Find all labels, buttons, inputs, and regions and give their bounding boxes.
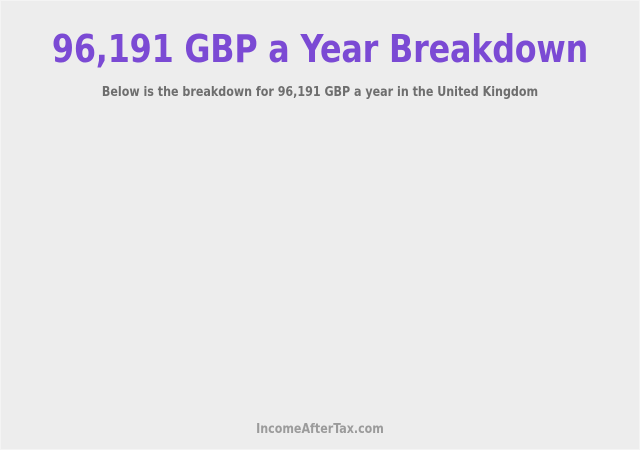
header: 96,191 GBP a Year Breakdown Below is the… [1,1,639,101]
site-watermark: IncomeAfterTax.com [17,422,623,438]
chart-plot-area [1,101,639,422]
page-title: 96,191 GBP a Year Breakdown [23,27,616,71]
page-subtitle: Below is the breakdown for 96,191 GBP a … [17,71,623,101]
footer: IncomeAfterTax.com [1,422,639,449]
infographic-canvas: 96,191 GBP a Year Breakdown Below is the… [0,0,640,450]
